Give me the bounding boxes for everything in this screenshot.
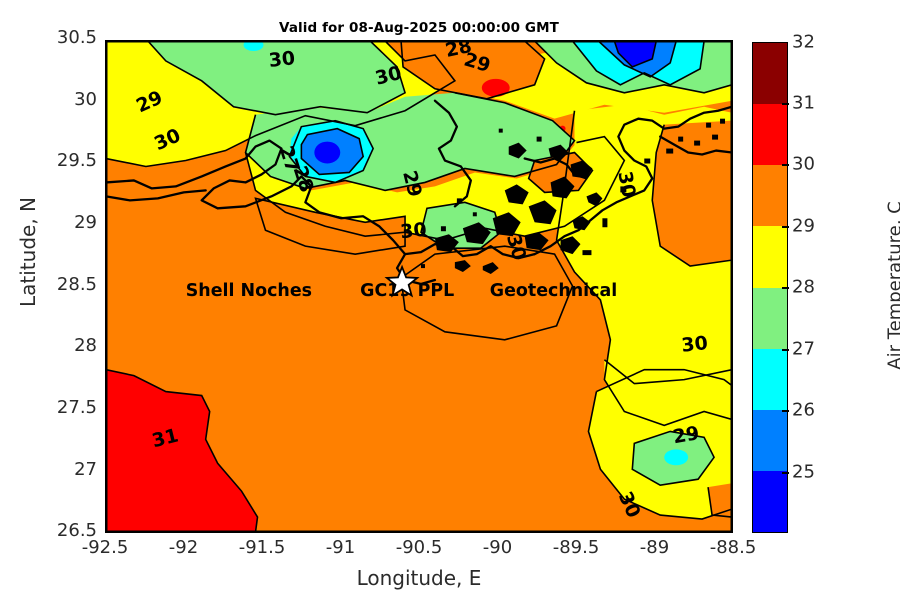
xtick-label: -91.5 (239, 537, 286, 558)
colorbar-tick-label: 28 (792, 277, 815, 298)
colorbar-band-31-32 (753, 43, 787, 104)
site-label-geotechnical: Geotechnical (490, 281, 617, 301)
colorbar-band-26-27 (753, 349, 787, 410)
colorbar-tick-label: 32 (792, 32, 815, 53)
colorbar-title: Air Temperature, C (885, 106, 900, 466)
colorbar-band-30-31 (753, 104, 787, 165)
xtick-label: -91 (326, 537, 355, 558)
xtick-label: -90 (483, 537, 512, 558)
xtick-label: -89 (640, 537, 669, 558)
colorbar-tick-label: 29 (792, 216, 815, 237)
x-axis-title: Longitude, E (105, 566, 733, 590)
contour-label: 30 (680, 332, 709, 357)
xtick-label: -90.5 (396, 537, 443, 558)
colorbar-tick-label: 25 (792, 462, 815, 483)
xtick-label: -88.5 (710, 537, 757, 558)
site-label-shell-noches: Shell Noches (186, 281, 312, 301)
contour-label: 30 (268, 47, 297, 72)
contour-map: 29 30 30 27 28 30 28 29 29 30 30 30 30 3… (106, 41, 732, 532)
map-plot-area[interactable]: 29 30 30 27 28 30 28 29 29 30 30 30 30 3… (105, 40, 733, 533)
colorbar-tickmark (782, 287, 789, 289)
colorbar-band-29-30 (753, 165, 787, 226)
colorbar-tickmark (782, 410, 789, 412)
colorbar-tick-label: 27 (792, 339, 815, 360)
colorbar-tickmark (782, 226, 789, 228)
colorbar-band-25-26 (753, 410, 787, 471)
colorbar-tickmark (782, 164, 789, 166)
contour-label: 29 (671, 422, 701, 448)
colorbar-tick-label: 26 (792, 400, 815, 421)
y-axis-title: Latitude, N (16, 132, 40, 372)
contour-label: 30 (613, 170, 639, 200)
chart-title: Valid for 08-Aug-2025 00:00:00 GMT (105, 20, 733, 36)
colorbar-tickmark (782, 472, 789, 474)
colorbar-band-below-25 (753, 471, 787, 532)
colorbar-band-27-28 (753, 288, 787, 349)
figure-root: Valid for 08-Aug-2025 00:00:00 GMT (0, 0, 900, 600)
colorbar-tickmark (782, 349, 789, 351)
contour-label: 30 (399, 219, 428, 244)
xtick-label: -92 (169, 537, 198, 558)
colorbar-tick-label: 30 (792, 154, 815, 175)
xtick-label: -89.5 (553, 537, 600, 558)
colorbar-band-28-29 (753, 226, 787, 287)
colorbar-tickmark (782, 103, 789, 105)
colorbar-tick-label: 31 (792, 93, 815, 114)
